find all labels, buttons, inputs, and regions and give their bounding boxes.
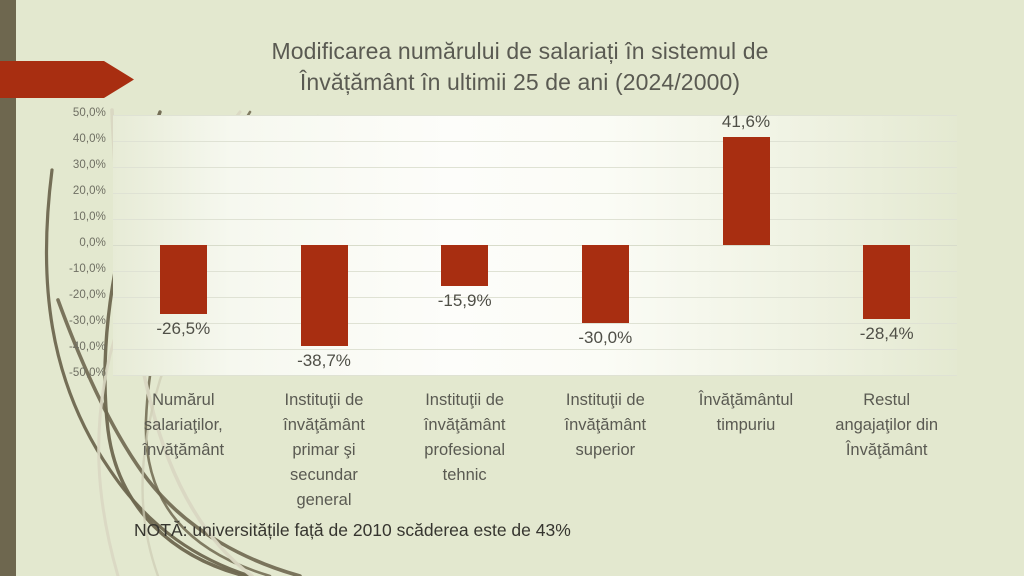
y-axis-tick-label: -50,0% — [44, 367, 106, 379]
bar[interactable] — [582, 245, 629, 323]
y-axis-tick-label: 20,0% — [44, 185, 106, 197]
category-label-line: salariaţilor, — [113, 413, 254, 438]
gridline — [113, 297, 957, 298]
bar-data-label: 41,6% — [686, 112, 806, 132]
category-label: Restulangajaţilor dinÎnvăţământ — [816, 388, 957, 463]
category-label-line: superior — [535, 438, 676, 463]
bar-data-label: -15,9% — [405, 291, 525, 311]
y-axis-tick-label: -30,0% — [44, 315, 106, 327]
bar-data-label: -38,7% — [264, 351, 384, 371]
gridline — [113, 375, 957, 376]
gridline — [113, 115, 957, 116]
category-label-line: tehnic — [394, 463, 535, 488]
y-axis-tick-label: -10,0% — [44, 263, 106, 275]
bar-data-label: -28,4% — [827, 324, 947, 344]
column-chart: Modificarea numărului de salariați în si… — [0, 0, 1024, 576]
bar[interactable] — [723, 137, 770, 245]
category-label: Numărulsalariaţilor,învăţământ — [113, 388, 254, 463]
category-label-line: primar şi — [254, 438, 395, 463]
category-label-line: Instituţii de — [394, 388, 535, 413]
bar-data-label: -26,5% — [123, 319, 243, 339]
bar[interactable] — [160, 245, 207, 314]
footer-note: NOTĂ: universitățile față de 2010 scăder… — [134, 520, 571, 541]
bar[interactable] — [863, 245, 910, 319]
category-label: Instituţii deînvăţământsuperior — [535, 388, 676, 463]
gridline — [113, 349, 957, 350]
category-label-line: Numărul — [113, 388, 254, 413]
gridline — [113, 167, 957, 168]
gridline — [113, 271, 957, 272]
y-axis-tick-label: 0,0% — [44, 237, 106, 249]
chart-title: Modificarea numărului de salariați în si… — [150, 36, 890, 98]
gridline — [113, 193, 957, 194]
category-label: Instituţii deînvăţământprofesionaltehnic — [394, 388, 535, 488]
category-label-line: Instituţii de — [254, 388, 395, 413]
category-label-line: profesional — [394, 438, 535, 463]
y-axis-tick-label: 10,0% — [44, 211, 106, 223]
chart-title-line-2: Învățământ în ultimii 25 de ani (2024/20… — [150, 67, 890, 98]
category-label-line: învăţământ — [254, 413, 395, 438]
category-label-line: general — [254, 488, 395, 513]
category-label: Învăţământultimpuriu — [676, 388, 817, 438]
gridline — [113, 141, 957, 142]
bar-data-label: -30,0% — [545, 328, 665, 348]
category-label-line: Restul — [816, 388, 957, 413]
y-axis-tick-label: 30,0% — [44, 159, 106, 171]
category-label-line: angajaţilor din — [816, 413, 957, 438]
y-axis-tick-label: -40,0% — [44, 341, 106, 353]
category-label-line: secundar — [254, 463, 395, 488]
category-label-line: învăţământ — [113, 438, 254, 463]
y-axis-tick-label: 50,0% — [44, 107, 106, 119]
chart-title-line-1: Modificarea numărului de salariați în si… — [150, 36, 890, 67]
slide-canvas: Modificarea numărului de salariați în si… — [0, 0, 1024, 576]
y-axis-tick-label: 40,0% — [44, 133, 106, 145]
category-label-line: Învăţământul — [676, 388, 817, 413]
category-label-line: învăţământ — [394, 413, 535, 438]
gridline — [113, 245, 957, 246]
category-label-line: timpuriu — [676, 413, 817, 438]
category-label-line: Învăţământ — [816, 438, 957, 463]
category-label-line: învăţământ — [535, 413, 676, 438]
bar[interactable] — [441, 245, 488, 286]
y-axis-tick-label: -20,0% — [44, 289, 106, 301]
gridline — [113, 219, 957, 220]
category-label: Instituţii deînvăţământprimar şisecundar… — [254, 388, 395, 513]
bar[interactable] — [301, 245, 348, 346]
category-label-line: Instituţii de — [535, 388, 676, 413]
